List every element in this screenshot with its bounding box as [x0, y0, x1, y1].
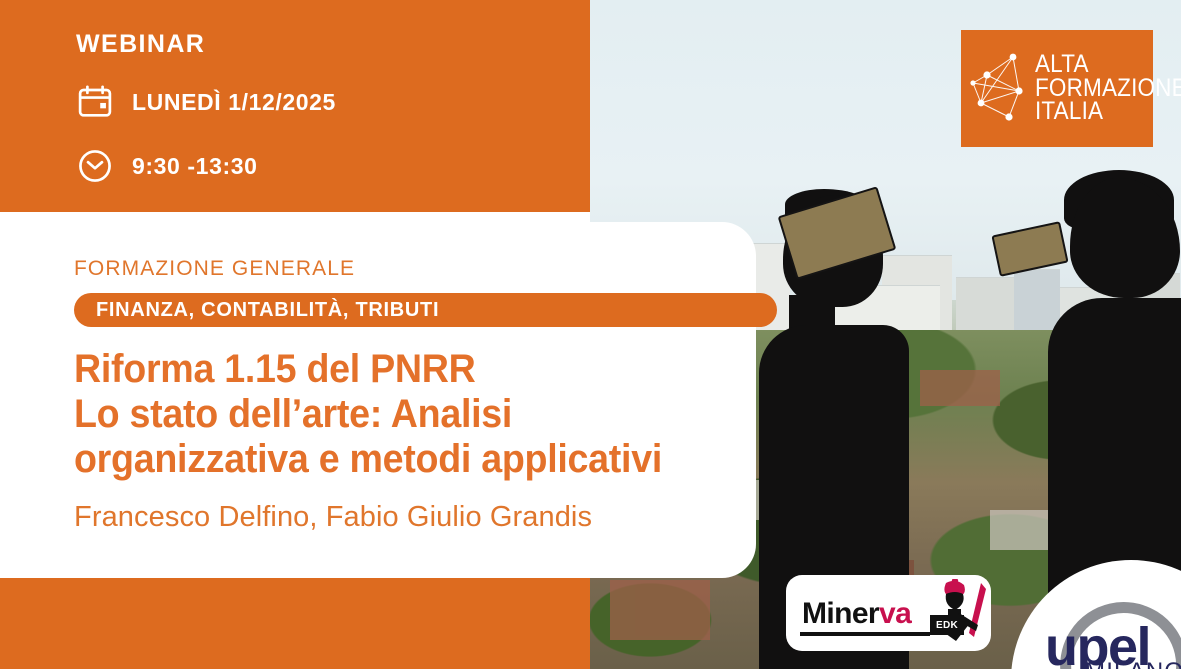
title-line-3: organizzativa e metodi applicativi	[74, 437, 691, 482]
date-row: LUNEDÌ 1/12/2025	[76, 83, 336, 121]
minerva-word-dark: Miner	[802, 597, 879, 630]
category-badge-label: FINANZA, CONTABILITÀ, TRIBUTI	[96, 300, 439, 320]
edk-badge: EDK	[930, 615, 964, 635]
rooftop	[920, 370, 1000, 406]
time-row: 9:30 -13:30	[76, 147, 336, 185]
minerva-underline	[800, 632, 930, 636]
network-nodes-icon	[969, 49, 1029, 129]
speakers-text: Francesco Delfino, Fabio Giulio Grandis	[74, 503, 730, 532]
afi-line-3: ITALIA	[1035, 100, 1181, 124]
clock-icon	[76, 147, 114, 185]
header-band: WEBINAR LUNEDÌ 1/12/2025	[0, 0, 590, 212]
content-card: FORMAZIONE GENERALE FINANZA, CONTABILITÀ…	[0, 222, 756, 578]
footer-band	[0, 577, 590, 669]
alta-formazione-italia-logo: ALTA FORMAZIONE ITALIA	[961, 30, 1153, 147]
eyebrow-label: FORMAZIONE GENERALE	[74, 258, 730, 279]
minerva-wordmark: Minerva	[802, 599, 911, 629]
minerva-word-accent: va	[879, 597, 911, 630]
rooftop	[610, 580, 710, 640]
header-content: WEBINAR LUNEDÌ 1/12/2025	[76, 32, 336, 185]
category-badge: FINANZA, CONTABILITÀ, TRIBUTI	[74, 293, 777, 327]
date-text: LUNEDÌ 1/12/2025	[132, 91, 336, 114]
content-card-inner: FORMAZIONE GENERALE FINANZA, CONTABILITÀ…	[74, 258, 730, 532]
webinar-poster: WEBINAR LUNEDÌ 1/12/2025	[0, 0, 1181, 669]
webinar-kicker: WEBINAR	[76, 32, 336, 57]
minerva-warrior-icon	[926, 579, 991, 645]
upel-subtitle: MILANO	[1085, 660, 1181, 669]
page-title: Riforma 1.15 del PNRR Lo stato dell’arte…	[74, 347, 691, 481]
title-line-2: Lo stato dell’arte: Analisi	[74, 392, 691, 437]
alta-formazione-wordmark: ALTA FORMAZIONE ITALIA	[1035, 53, 1181, 124]
title-line-1: Riforma 1.15 del PNRR	[74, 347, 691, 392]
time-text: 9:30 -13:30	[132, 155, 258, 178]
calendar-icon	[76, 83, 114, 121]
minerva-logo: Minerva EDK	[786, 575, 991, 651]
